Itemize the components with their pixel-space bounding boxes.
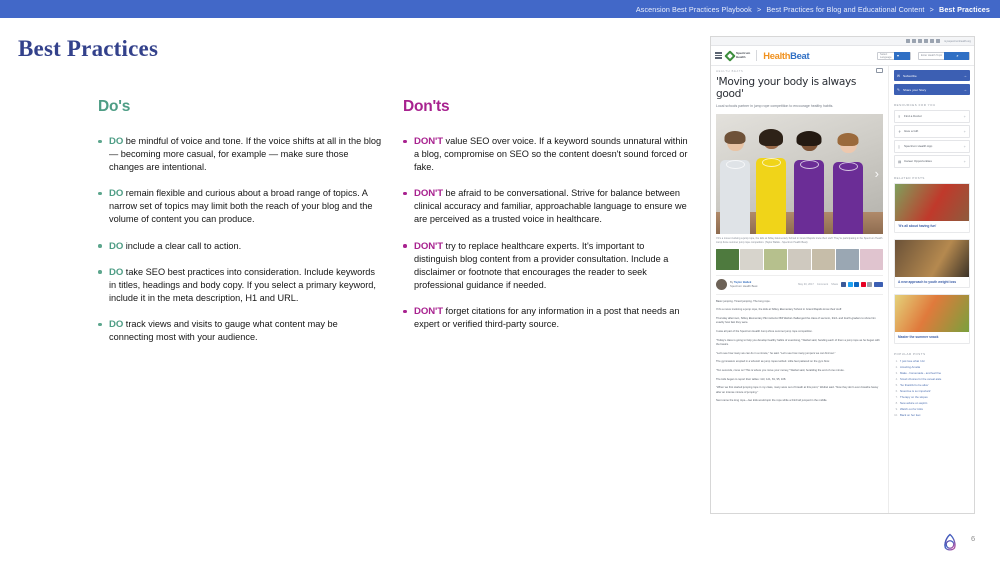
list-number: 7. xyxy=(894,395,898,399)
article-paragraph: If it's a move involving a jump rope, th… xyxy=(716,308,883,312)
byline-role: Spectrum Health Beat xyxy=(730,284,757,288)
resource-find-a-doctor[interactable]: ☤ Find a Doctor + xyxy=(894,110,970,123)
dos-list: DO be mindful of voice and tone. If the … xyxy=(98,135,383,344)
chevron-right-icon[interactable]: › xyxy=(875,169,879,179)
photo-subject xyxy=(756,130,786,234)
article-dek: Local schools partner in jump rope compe… xyxy=(716,104,883,109)
resource-label: Career Opportunities xyxy=(904,160,964,164)
hero-photo[interactable]: › xyxy=(716,114,883,234)
resource-give-a-gift[interactable]: ⚘ Give a Gift + xyxy=(894,125,970,138)
photo-subject xyxy=(833,134,863,234)
dos-heading: Do's xyxy=(98,98,383,116)
resource-spectrum-health-app[interactable]: ▯ Spectrum Health App + xyxy=(894,140,970,153)
page-number: 6 xyxy=(971,534,975,543)
article-paragraph: It was all part of the Spectrum Health J… xyxy=(716,330,883,334)
popular-post-title: Amazing Amelia xyxy=(900,365,920,369)
dont-keyword: DON'T xyxy=(414,241,443,252)
print-icon[interactable] xyxy=(874,282,883,287)
dont-keyword: DON'T xyxy=(414,136,443,147)
list-item[interactable]: 5.'So thankful to be alive' xyxy=(894,383,970,387)
twitter-icon[interactable] xyxy=(848,282,853,287)
instagram-icon[interactable] xyxy=(918,39,922,43)
list-item-text: include a clear call to action. xyxy=(126,241,241,251)
thumbnail[interactable] xyxy=(860,249,883,270)
article-headline: 'Moving your body is always good' xyxy=(716,76,883,100)
list-number: 3. xyxy=(894,371,898,375)
popular-post-title: 'Exercise is so important' xyxy=(900,389,931,393)
utility-bar: mysspectrumhealth.org xyxy=(711,37,974,46)
plus-icon[interactable]: + xyxy=(964,159,966,164)
list-item-text: take SEO best practices into considerati… xyxy=(109,267,376,303)
popular-post-title: Back on her feet xyxy=(900,413,920,417)
list-item: DO be mindful of voice and tone. If the … xyxy=(98,135,383,174)
list-item-text: try to replace healthcare experts. It's … xyxy=(414,241,668,290)
popular-post-title: 'So thankful to be alive' xyxy=(900,383,929,387)
breadcrumb-item-section[interactable]: Best Practices for Blog and Educational … xyxy=(766,5,924,14)
resource-label: Spectrum Health App xyxy=(904,145,964,149)
article-sidebar: ✉ Subscribe → ✎ Share your Story → RESOU… xyxy=(889,66,974,514)
hamburger-icon[interactable] xyxy=(715,52,722,58)
popular-post-title: 'I just love what I do' xyxy=(900,359,925,363)
article-paragraph: "When we first started jumping rope in m… xyxy=(716,386,883,395)
article-paragraph: Next came the long rope—two kids would s… xyxy=(716,399,883,403)
breadcrumb-bar: Ascension Best Practices Playbook > Best… xyxy=(0,0,1000,18)
brand-wordmark: Spectrum Health xyxy=(736,52,750,59)
popular-posts-heading: POPULAR POSTS xyxy=(894,352,970,356)
do-keyword: DO xyxy=(109,267,123,278)
list-number: 10. xyxy=(894,413,898,417)
breadcrumb-item-playbook[interactable]: Ascension Best Practices Playbook xyxy=(636,5,752,14)
list-item[interactable]: 1.'I just love what I do' xyxy=(894,359,970,363)
list-item: DO track views and visits to gauge what … xyxy=(98,318,383,344)
language-select-value: Select Language xyxy=(878,53,894,59)
list-item-text: remain flexible and curious about a broa… xyxy=(109,188,373,224)
related-post-title: Master the summer snack xyxy=(895,332,969,343)
plus-icon[interactable]: + xyxy=(964,129,966,134)
share-icon-row xyxy=(841,282,883,287)
list-item[interactable]: 2.Amazing Amelia xyxy=(894,365,970,369)
list-item: DON'T value SEO over voice. If a keyword… xyxy=(403,135,688,174)
site-nav: Spectrum Health HealthBeat Select Langua… xyxy=(711,46,974,66)
popular-post-title: Watch out for ticks xyxy=(900,407,923,411)
donts-list: DON'T value SEO over voice. If a keyword… xyxy=(403,135,688,331)
ascension-trinity-logo xyxy=(938,530,962,554)
example-article-screenshot: mysspectrumhealth.org Spectrum Health He… xyxy=(710,36,975,514)
email-icon[interactable] xyxy=(867,282,872,287)
breadcrumb-item-current: Best Practices xyxy=(939,5,990,14)
hero-caption: If it's a move involving a jump rope, th… xyxy=(716,237,883,245)
list-number: 2. xyxy=(894,365,898,369)
subscribe-button[interactable]: ✉ Subscribe → xyxy=(894,70,970,81)
do-keyword: DO xyxy=(109,241,123,252)
article-kicker: HEALTH BEATS xyxy=(716,70,883,73)
popular-post-title: Therapy on the slopes xyxy=(900,395,928,399)
page-title: Best Practices xyxy=(18,36,158,62)
dont-keyword: DON'T xyxy=(414,306,443,317)
list-item[interactable]: 4.Smart choices for the cereal aisle xyxy=(894,377,970,381)
resource-label: Give a Gift xyxy=(904,130,964,134)
list-item[interactable]: 3.Make - homemade - and feel fine xyxy=(894,371,970,375)
list-item-text: forget citations for any information in … xyxy=(414,306,679,329)
list-item: DON'T forget citations for any informati… xyxy=(403,305,688,331)
list-item[interactable]: 7.Therapy on the slopes xyxy=(894,395,970,399)
related-post-image xyxy=(895,240,969,277)
byline-date: May 30, 2017 xyxy=(798,283,814,286)
list-item-text: be mindful of voice and tone. If the voi… xyxy=(109,136,381,172)
linkedin-icon[interactable] xyxy=(936,39,940,43)
facebook-icon[interactable] xyxy=(841,282,846,287)
facebook-icon[interactable] xyxy=(906,39,910,43)
photo-thumbnail-strip xyxy=(716,249,883,270)
list-number: 9. xyxy=(894,407,898,411)
brand-line-2: Health xyxy=(736,55,745,59)
list-item-text: track views and visits to gauge what con… xyxy=(109,319,338,342)
breadcrumb-separator: > xyxy=(757,5,761,14)
byline-text: By Taylor Ballek Spectrum Health Beat xyxy=(730,280,795,288)
article-paragraph: "Ten seconds, come on! This is where you… xyxy=(716,369,883,373)
language-select[interactable]: Select Language xyxy=(877,52,911,60)
search-input[interactable]: Enter Health Topic ⌕ xyxy=(918,52,970,60)
breadcrumb: Ascension Best Practices Playbook > Best… xyxy=(636,5,990,14)
diamond-icon xyxy=(724,50,735,61)
list-item[interactable]: 8.New advice on aspirin xyxy=(894,401,970,405)
related-posts-heading: RELATED POSTS xyxy=(894,176,970,180)
arrow-right-icon: → xyxy=(963,73,967,78)
dont-keyword: DON'T xyxy=(414,188,443,199)
article-paragraph: Thursday afternoon, Sibley Elementary PE… xyxy=(716,317,883,326)
article-paragraph: The gymnasium erupted in a whoosh as jum… xyxy=(716,360,883,364)
resource-career-opportunities[interactable]: ▤ Career Opportunities + xyxy=(894,155,970,168)
related-post-image xyxy=(895,295,969,332)
list-item: DO take SEO best practices into consider… xyxy=(98,266,383,305)
list-item[interactable]: 10.Back on her feet xyxy=(894,413,970,417)
list-number: 6. xyxy=(894,389,898,393)
avatar xyxy=(716,279,727,290)
article-paragraph: "Today's class is going to help you deve… xyxy=(716,339,883,348)
donts-heading: Don'ts xyxy=(403,98,688,116)
do-keyword: DO xyxy=(109,319,123,330)
dos-column: Do's DO be mindful of voice and tone. If… xyxy=(98,98,383,357)
arrow-right-icon: → xyxy=(963,87,967,92)
related-post-image xyxy=(895,184,969,221)
photo-subject xyxy=(794,132,824,234)
list-item: DO remain flexible and curious about a b… xyxy=(98,187,383,226)
do-keyword: DO xyxy=(109,136,123,147)
article-byline: By Taylor Ballek Spectrum Health Beat Ma… xyxy=(716,275,883,295)
do-keyword: DO xyxy=(109,188,123,199)
article-paragraph: Basic jumping. Timed jumping. The long r… xyxy=(716,300,883,304)
resources-heading: RESOURCES FOR YOU xyxy=(894,103,970,107)
search-placeholder: Enter Health Topic xyxy=(919,54,944,57)
related-post-card[interactable]: A new approach to youth weight loss xyxy=(894,239,970,289)
page-body: HEALTH BEATS 'Moving your body is always… xyxy=(711,66,974,514)
list-item[interactable]: 9.Watch out for ticks xyxy=(894,407,970,411)
share-story-label: Share your Story xyxy=(900,88,963,92)
slide-canvas: Ascension Best Practices Playbook > Best… xyxy=(0,0,1000,562)
subscribe-label: Subscribe xyxy=(900,74,963,78)
list-number: 5. xyxy=(894,383,898,387)
popular-post-title: New advice on aspirin xyxy=(900,401,927,405)
linkedin-icon[interactable] xyxy=(854,282,859,287)
list-item: DO include a clear call to action. xyxy=(98,240,383,253)
thumbnail[interactable] xyxy=(740,249,763,270)
related-post-title: 'It's all about having fun' xyxy=(895,221,969,232)
comment-link[interactable]: Comment xyxy=(817,283,828,286)
list-item-text: value SEO over voice. If a keyword sound… xyxy=(414,136,688,172)
related-post-card[interactable]: Master the summer snack xyxy=(894,294,970,344)
healthbeat-part-a: Health xyxy=(763,50,790,61)
popular-post-title: Make - homemade - and feel fine xyxy=(900,371,941,375)
list-item[interactable]: 6.'Exercise is so important' xyxy=(894,389,970,393)
chevron-down-icon[interactable] xyxy=(894,52,910,60)
popular-post-title: Smart choices for the cereal aisle xyxy=(900,377,941,381)
search-icon[interactable]: ⌕ xyxy=(944,52,969,60)
thumbnail[interactable] xyxy=(764,249,787,270)
breadcrumb-separator: > xyxy=(930,5,934,14)
resource-label: Find a Doctor xyxy=(904,115,964,119)
list-item: DON'T try to replace healthcare experts.… xyxy=(403,240,688,292)
spectrum-health-logo[interactable]: Spectrum Health xyxy=(726,52,750,60)
youtube-icon[interactable] xyxy=(930,39,934,43)
healthbeat-wordmark[interactable]: HealthBeat xyxy=(763,50,809,61)
divider xyxy=(756,50,757,61)
pinterest-icon[interactable] xyxy=(924,39,928,43)
article-main: HEALTH BEATS 'Moving your body is always… xyxy=(711,66,889,514)
share-label: Share xyxy=(831,283,838,286)
related-post-title: A new approach to youth weight loss xyxy=(895,277,969,288)
thumbnail[interactable] xyxy=(716,249,739,270)
popular-posts-list: 1.'I just love what I do' 2.Amazing Amel… xyxy=(894,359,970,417)
list-number: 1. xyxy=(894,359,898,363)
plus-icon[interactable]: + xyxy=(964,114,966,119)
donts-column: Don'ts DON'T value SEO over voice. If a … xyxy=(403,98,688,344)
twitter-icon[interactable] xyxy=(912,39,916,43)
pinterest-icon[interactable] xyxy=(861,282,866,287)
thumbnail[interactable] xyxy=(812,249,835,270)
printer-icon[interactable] xyxy=(876,68,883,73)
list-number: 4. xyxy=(894,377,898,381)
article-paragraph: The kids began to report their tallies: … xyxy=(716,378,883,382)
list-item-text: be afraid to be conversational. Strive f… xyxy=(414,188,687,224)
list-number: 8. xyxy=(894,401,898,405)
utility-bar-link[interactable]: mysspectrumhealth.org xyxy=(944,40,971,43)
share-story-button[interactable]: ✎ Share your Story → xyxy=(894,84,970,95)
plus-icon[interactable]: + xyxy=(964,144,966,149)
healthbeat-part-b: Beat xyxy=(790,50,809,61)
thumbnail[interactable] xyxy=(836,249,859,270)
photo-subject xyxy=(720,132,750,234)
article-paragraph: "Let's see how many we can do in a minut… xyxy=(716,352,883,356)
related-post-card[interactable]: 'It's all about having fun' xyxy=(894,183,970,233)
thumbnail[interactable] xyxy=(788,249,811,270)
list-item: DON'T be afraid to be conversational. St… xyxy=(403,187,688,226)
